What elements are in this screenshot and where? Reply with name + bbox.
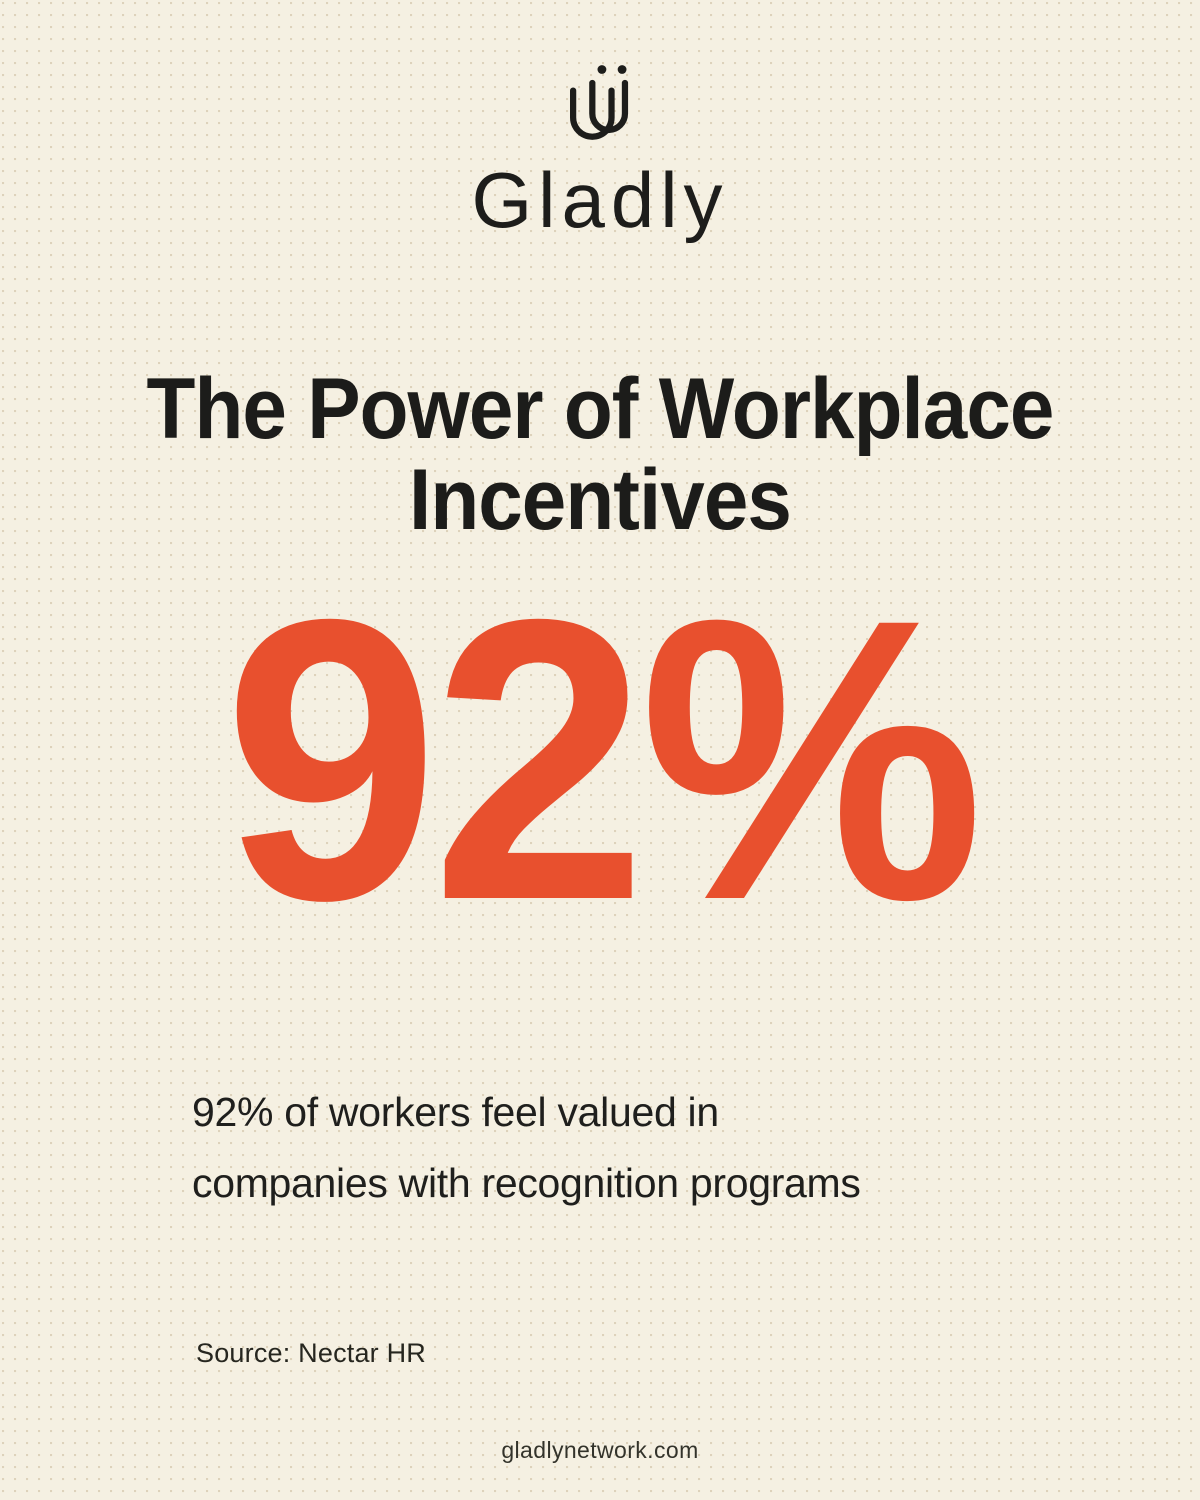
source-label: Source: Nectar HR	[196, 1338, 426, 1369]
brand-lockup: Gladly	[0, 58, 1200, 242]
page-title-line-2: Incentives	[409, 452, 791, 548]
stat-value: 92%	[18, 560, 1182, 960]
page-title-line-1: The Power of Workplace	[147, 361, 1054, 457]
stat-description-line-1: 92% of workers feel valued in	[192, 1077, 1022, 1148]
infographic-poster: Gladly The Power of Workplace Incentives…	[0, 0, 1200, 1500]
stat-description-line-2: companies with recognition programs	[192, 1148, 1022, 1219]
footer-website: gladlynetwork.com	[0, 1437, 1200, 1464]
page-title: The Power of Workplace Incentives	[116, 364, 1083, 546]
stat-description: 92% of workers feel valued in companies …	[192, 1077, 1022, 1218]
brand-name: Gladly	[0, 160, 1200, 242]
gladly-paperclip-face-icon	[552, 58, 648, 154]
